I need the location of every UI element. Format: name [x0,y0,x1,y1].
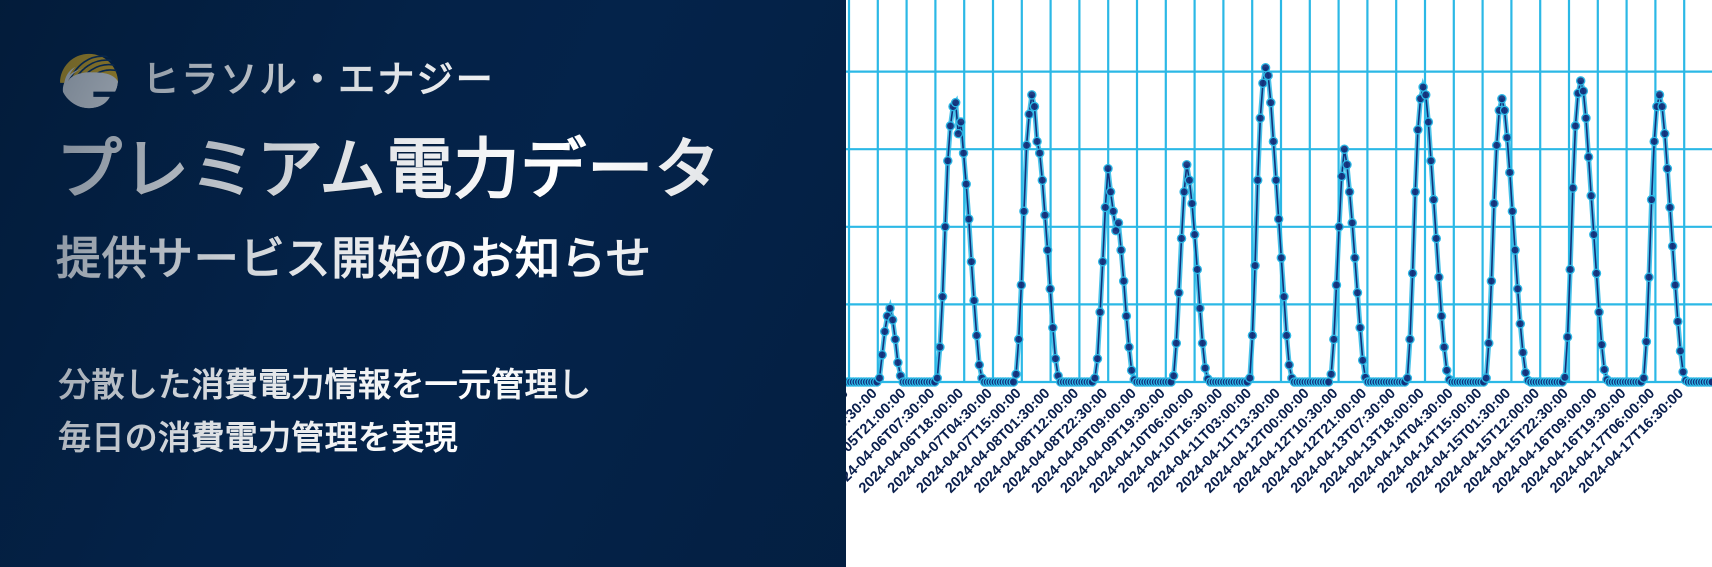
brand-name: ヒラソル・エナジー [142,61,495,98]
body-line-2: 毎日の消費電力管理を実現 [58,411,591,464]
hero-body-copy: 分散した消費電力情報を一元管理し 毎日の消費電力管理を実現 [58,358,591,465]
page-title: プレミアム電力データ [56,134,721,205]
chart-canvas: 2024-04-05T00:00:002024-04-05T10:30:0020… [846,0,1712,567]
promo-banner: ヒラソル・エナジー プレミアム電力データ 提供サービス開始のお知らせ 分散した消… [0,0,1712,567]
sunrise-g-logo-icon [58,48,120,110]
chart-x-axis-labels: 2024-04-05T00:00:002024-04-05T10:30:0020… [846,386,1687,497]
power-consumption-chart: 2024-04-05T00:00:002024-04-05T10:30:0020… [846,0,1712,567]
body-line-1: 分散した消費電力情報を一元管理し [58,358,591,411]
page-subtitle: 提供サービス開始のお知らせ [56,234,652,284]
hero-left-panel: ヒラソル・エナジー プレミアム電力データ 提供サービス開始のお知らせ 分散した消… [0,0,846,567]
brand-lockup: ヒラソル・エナジー [58,48,495,110]
